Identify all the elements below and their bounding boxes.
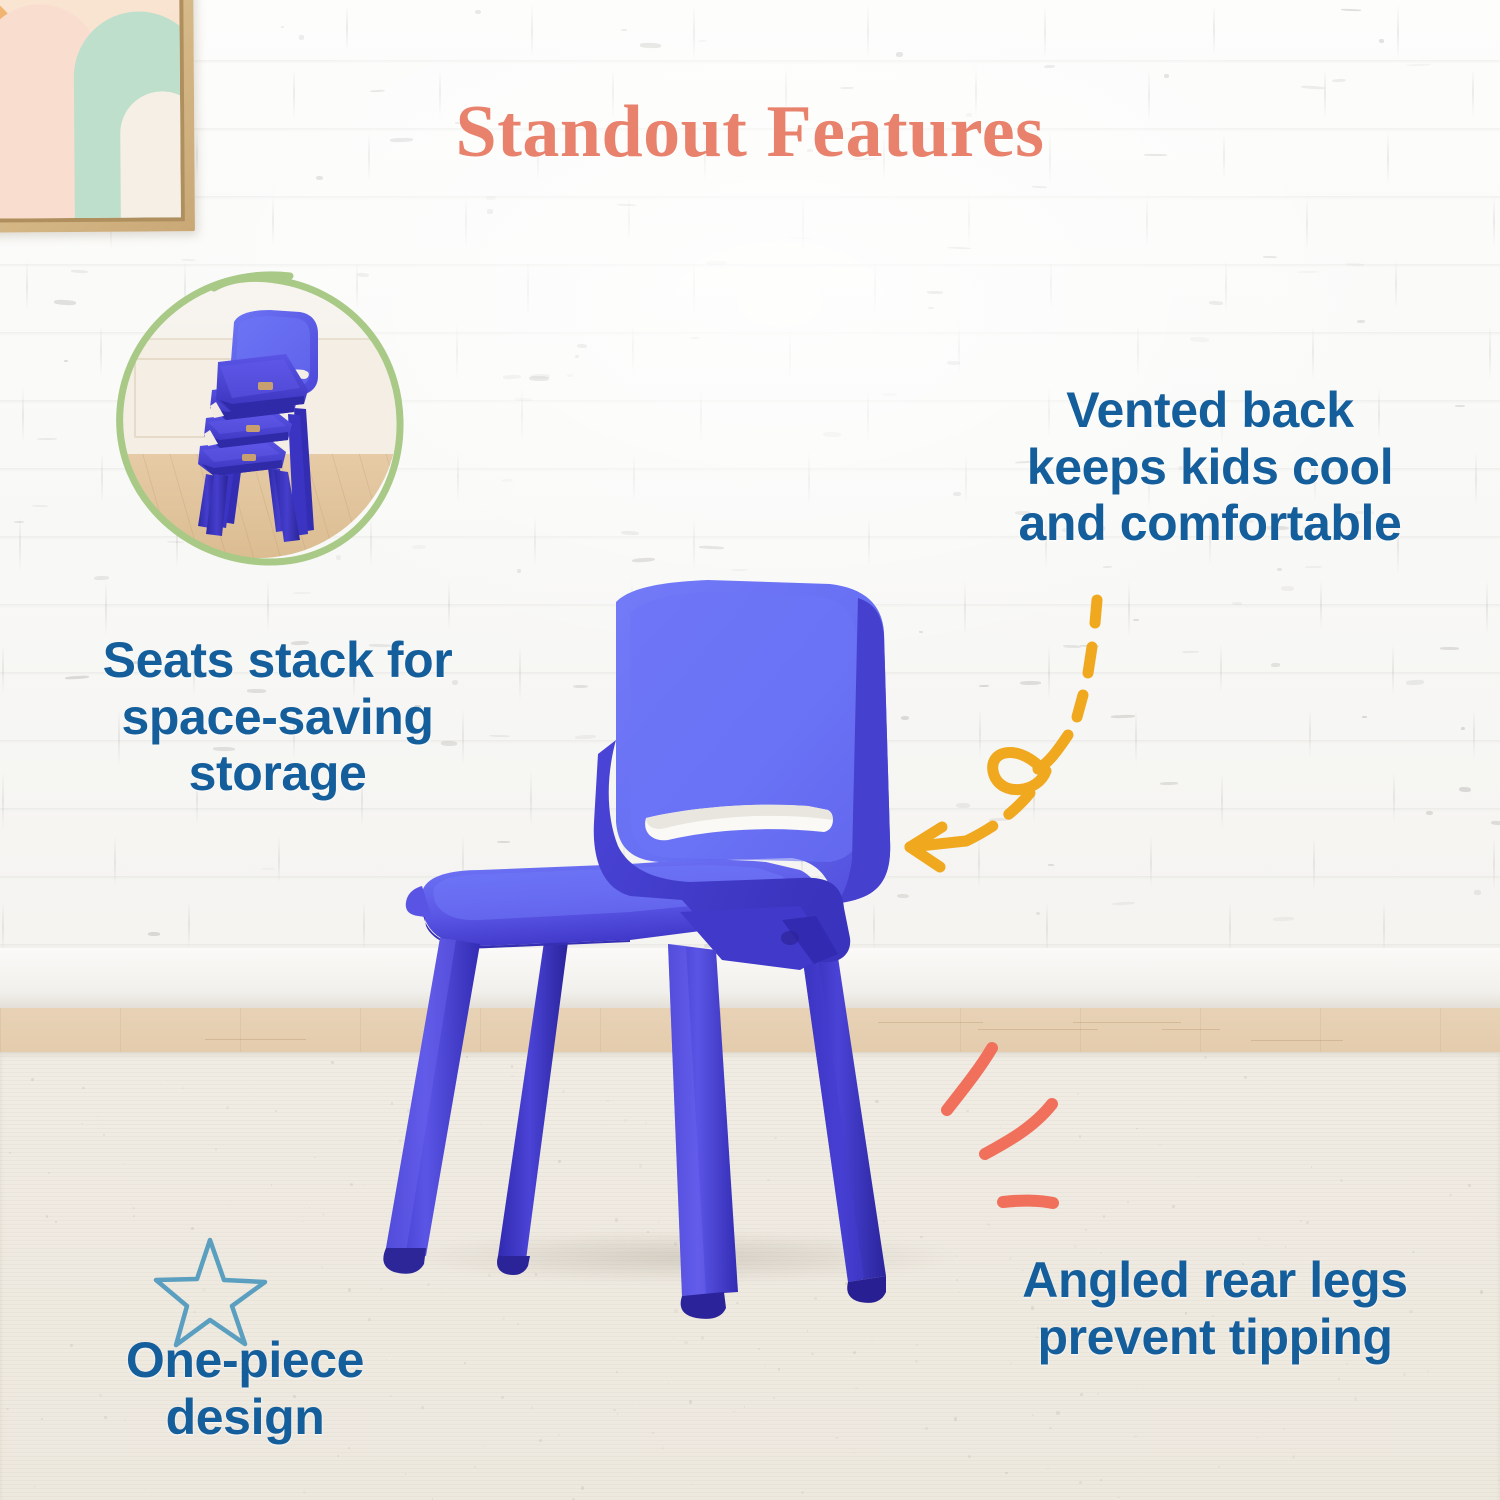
callout-angled-legs-line-1: Angled rear legs bbox=[965, 1252, 1465, 1309]
callout-vented-back-line-2: keeps kids cool bbox=[955, 439, 1465, 496]
callout-seats-stack-line-2: space-saving bbox=[40, 689, 515, 746]
callout-seats-stack: Seats stack forspace-savingstorage bbox=[40, 632, 515, 802]
infographic-canvas: Standout Features bbox=[0, 0, 1500, 1500]
chair-leg-front-left bbox=[383, 938, 480, 1274]
callout-angled-legs-line-2: prevent tipping bbox=[965, 1309, 1465, 1366]
chair-leg-rear-right bbox=[800, 940, 886, 1303]
callout-one-piece-line-1: One-piece bbox=[45, 1332, 445, 1389]
chair-leg-rear-left bbox=[497, 942, 568, 1275]
callout-seats-stack-line-1: Seats stack for bbox=[40, 632, 515, 689]
callout-seats-stack-line-3: storage bbox=[40, 745, 515, 802]
chair-leg-front-right bbox=[668, 944, 738, 1319]
callout-one-piece: One-piecedesign bbox=[45, 1332, 445, 1445]
green-circle-icon bbox=[108, 268, 408, 568]
orange-curved-arrow-icon bbox=[880, 575, 1150, 875]
blue-star-icon bbox=[152, 1232, 268, 1348]
coral-motion-lines-icon bbox=[935, 1030, 1085, 1240]
callout-one-piece-line-2: design bbox=[45, 1389, 445, 1446]
callout-vented-back-line-3: and comfortable bbox=[955, 495, 1465, 552]
callout-angled-legs: Angled rear legsprevent tipping bbox=[965, 1252, 1465, 1365]
stacked-chairs-inset bbox=[108, 268, 408, 568]
callout-vented-back: Vented backkeeps kids cooland comfortabl… bbox=[955, 382, 1465, 552]
callout-vented-back-line-1: Vented back bbox=[955, 382, 1465, 439]
page-title: Standout Features bbox=[0, 90, 1500, 175]
